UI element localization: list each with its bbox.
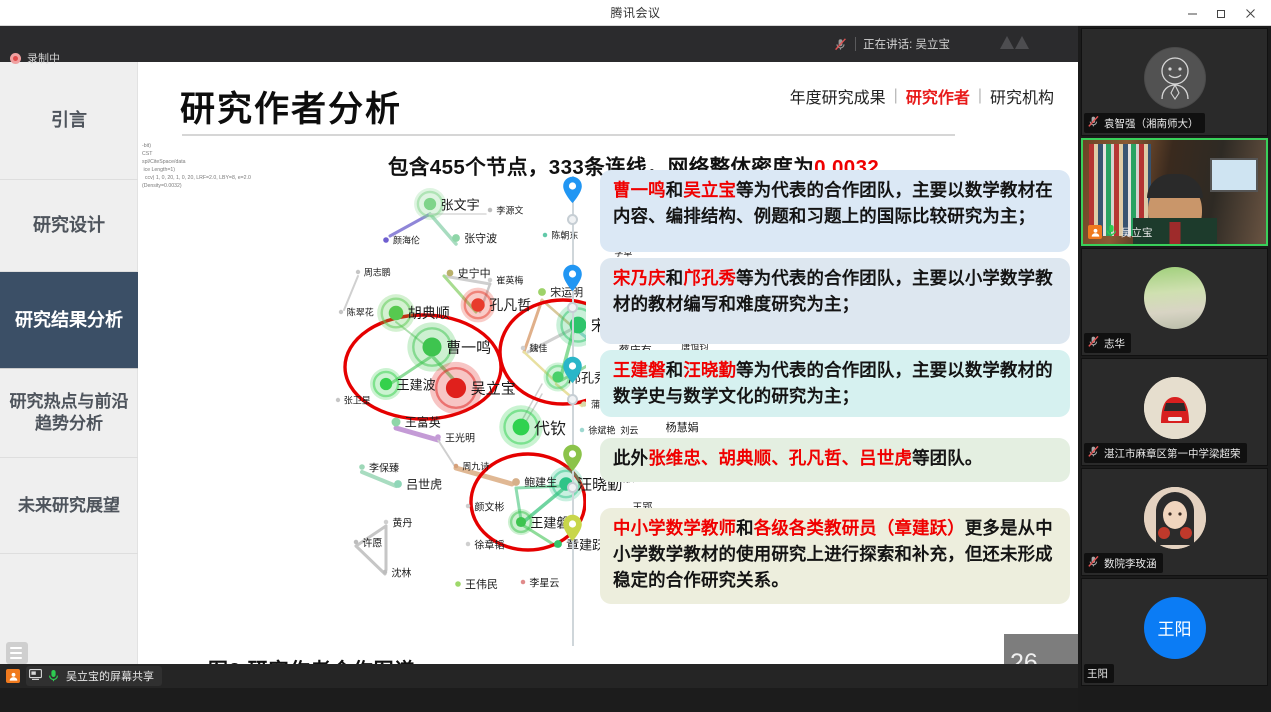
tencent-meeting-window: 腾讯会议 正在讲话: 吴立宝 (0, 0, 1271, 712)
participant-name: 吴立宝 (1121, 225, 1153, 240)
participant-tile[interactable]: 数院李玫涵 (1081, 468, 1268, 576)
host-icon (6, 669, 20, 683)
rail-item-label: 研究结果分析 (15, 309, 123, 332)
network-node (339, 310, 343, 314)
timeline-node-dot (567, 394, 578, 405)
speaking-divider (855, 37, 856, 51)
highlighted-name: 吴立宝 (683, 180, 736, 200)
network-node-label: 王建波 (397, 375, 436, 394)
screen-share-chip: 吴立宝的屏幕共享 (26, 666, 162, 686)
timeline-pin-icon (562, 356, 583, 384)
network-node-label: 王光明 (445, 430, 475, 445)
participant-name: 湛江市麻章区第一中学梁超荣 (1104, 446, 1241, 461)
tencent-meeting-logo-icon (998, 32, 1032, 57)
participant-name-badge: 吴立宝 (1085, 222, 1159, 242)
finding-bubble: 中小学数学教师和各级各类教研员（章建跃）更多是从中小学数学教材的使用研究上进行探… (600, 508, 1070, 604)
network-node (521, 346, 525, 350)
finding-text: 和 (666, 180, 684, 200)
app-title: 腾讯会议 (610, 4, 660, 21)
network-node-label: 徐章韬 (474, 537, 504, 552)
network-node (471, 298, 484, 311)
participant-name-badge: 数院李玫涵 (1084, 553, 1163, 573)
mic-muted-icon (1087, 555, 1100, 571)
network-node (543, 233, 547, 237)
network-node (380, 378, 392, 390)
breadcrumb-separator: | (978, 87, 982, 105)
network-node (454, 464, 458, 468)
highlighted-name: 王建磐 (613, 360, 666, 380)
participant-name: 袁智强（湘南师大） (1104, 116, 1199, 131)
speaking-indicator: 正在讲话: 吴立宝 (833, 36, 950, 52)
timeline-node-dot (567, 214, 578, 225)
share-status-label: 吴立宝的屏幕共享 (66, 668, 154, 684)
mic-on-icon (48, 669, 60, 683)
network-node (512, 478, 520, 486)
window-controls (1178, 0, 1265, 26)
network-node-label: 孔凡哲 (489, 295, 531, 315)
maximize-icon[interactable] (1207, 0, 1236, 26)
rail-item-intro[interactable]: 引言 (0, 62, 138, 180)
share-status-bar: 吴立宝的屏幕共享 (0, 664, 1078, 688)
network-node (455, 581, 461, 587)
network-node-label: 曹一鸣 (446, 337, 491, 358)
timeline-pin-icon (562, 264, 583, 292)
network-node-label: 李保臻 (369, 460, 399, 475)
finding-text: 和 (666, 268, 684, 288)
participant-tile[interactable]: 袁智强（湘南师大） (1081, 28, 1268, 136)
timeline-node-dot (567, 482, 578, 493)
network-node-label: 许愿 (362, 535, 382, 550)
participant-tile[interactable]: 志华 (1081, 248, 1268, 356)
network-node-label: 史宁中 (458, 265, 491, 281)
recording-indicator: 录制中 (10, 50, 60, 66)
speaking-label: 正在讲话: 吴立宝 (863, 36, 950, 52)
rail-item-future-outlook[interactable]: 未来研究展望 (0, 458, 138, 554)
network-node (383, 237, 389, 243)
breadcrumb-item-0[interactable]: 年度研究成果 (790, 84, 886, 108)
finding-text: 此外 (613, 448, 648, 468)
screen-share-icon (29, 669, 42, 683)
network-node (389, 306, 404, 321)
network-node (446, 378, 466, 398)
network-node-label: 李星云 (529, 575, 559, 590)
finding-bubble: 宋乃庆和邝孔秀等为代表的合作团队，主要以小学数学教材的教材编写和难度研究为主； (600, 258, 1070, 344)
network-node-label: 周九诗 (462, 460, 489, 473)
network-node (354, 540, 358, 544)
minimize-icon[interactable] (1178, 0, 1207, 26)
recording-dot-icon (10, 53, 21, 64)
network-node (466, 504, 470, 508)
network-node (383, 570, 387, 574)
participant-roster[interactable]: 袁智强（湘南师大）吴立宝志华湛江市麻章区第一中学梁超荣数院李玫涵王阳王阳 (1078, 26, 1271, 712)
avatar (1144, 267, 1206, 329)
rail-item-hotspots[interactable]: 研究热点与前沿趋势分析 (0, 368, 138, 458)
network-node-label: 颜海伦 (393, 234, 420, 247)
ppt-nav-rail: 引言 研究设计 研究结果分析 研究热点与前沿趋势分析 未来研究展望 (0, 62, 138, 688)
network-node (394, 480, 402, 488)
shared-screen-stage: 引言 研究设计 研究结果分析 研究热点与前沿趋势分析 未来研究展望 研究作者分析… (0, 62, 1078, 688)
network-node (513, 419, 530, 436)
window-titlebar: 腾讯会议 (0, 0, 1271, 26)
rail-item-research-results[interactable]: 研究结果分析 (0, 272, 138, 368)
participant-name-badge: 袁智强（湘南师大） (1084, 113, 1205, 133)
close-icon[interactable] (1236, 0, 1265, 26)
avatar (1144, 487, 1206, 549)
finding-text: 等团队。 (912, 448, 982, 468)
timeline-pin-icon (562, 444, 583, 472)
coauthor-network-graph: 张文宇李源文颜海伦张守波陈朝东李卓于波周志鹏史宁中崔英梅陈翠花胡典顺孔凡哲宋运明… (138, 172, 586, 642)
participant-tile[interactable]: 吴立宝 (1081, 138, 1268, 246)
network-node (424, 198, 436, 210)
participant-name: 志华 (1104, 336, 1125, 351)
network-node (447, 270, 454, 277)
network-node (392, 418, 401, 427)
participant-name: 王阳 (1087, 666, 1108, 681)
mic-muted-icon (1087, 445, 1100, 461)
network-node-label: 张文宇 (441, 195, 480, 214)
network-node-label: 魏佳 (529, 342, 547, 355)
network-node-label: 崔英梅 (496, 274, 523, 287)
breadcrumb-item-2[interactable]: 研究机构 (990, 84, 1054, 108)
highlighted-name: 各级各类教研员（章建跃） (754, 518, 965, 538)
network-node (521, 580, 525, 584)
breadcrumb: 年度研究成果 | 研究作者 | 研究机构 (790, 84, 1054, 108)
avatar-initial: 王阳 (1144, 597, 1206, 659)
page-title: 研究作者分析 (180, 81, 402, 132)
network-nodes (138, 172, 586, 642)
participant-tile[interactable]: 王阳王阳 (1081, 578, 1268, 686)
timeline-node-dot (567, 302, 578, 313)
network-node-label: 沈林 (391, 565, 411, 580)
mic-muted-icon (833, 37, 848, 52)
network-node (336, 398, 340, 402)
rail-item-label: 研究设计 (33, 214, 105, 237)
network-node (538, 288, 546, 296)
network-node (422, 337, 441, 356)
rail-item-label: 引言 (51, 109, 87, 132)
network-node (516, 517, 526, 527)
network-node-label: 颜文彬 (474, 499, 504, 514)
network-node-label: 吴立宝 (471, 378, 516, 399)
finding-bubble: 此外张维忠、胡典顺、孔凡哲、吕世虎等团队。 (600, 438, 1070, 482)
network-node (384, 520, 388, 524)
network-node (488, 208, 492, 212)
breadcrumb-item-1[interactable]: 研究作者 (906, 84, 970, 108)
highlighted-name: 汪晓勤 (683, 360, 736, 380)
timeline-pin-icon (562, 514, 583, 542)
network-node-label: 鲍建生 (524, 474, 557, 490)
network-node-label: 胡典顺 (408, 303, 450, 323)
participant-name-badge: 志华 (1084, 333, 1131, 353)
findings-timeline: 曹一鸣和吴立宝等为代表的合作团队，主要以数学教材在内容、编排结构、例题和习题上的… (562, 170, 1078, 682)
highlighted-name: 宋乃庆 (613, 268, 666, 288)
avatar (1144, 377, 1206, 439)
network-node (359, 464, 365, 470)
mic-muted-icon (1087, 115, 1100, 131)
host-icon (1088, 225, 1102, 239)
network-node-label: 王伟民 (465, 576, 498, 592)
highlighted-name: 张维忠、胡典顺、孔凡哲、吕世虎 (648, 448, 912, 468)
tie (1169, 222, 1180, 244)
network-node-label: 王富英 (405, 414, 441, 431)
slide-canvas: 研究作者分析 年度研究成果 | 研究作者 | 研究机构 包含455个节点，333… (138, 62, 1078, 688)
rail-item-research-design[interactable]: 研究设计 (0, 180, 138, 272)
highlighted-name: 中小学数学教师 (613, 518, 736, 538)
network-node (356, 270, 360, 274)
participant-tile[interactable]: 湛江市麻章区第一中学梁超荣 (1081, 358, 1268, 466)
network-node (554, 540, 562, 548)
network-node-label: 黄丹 (392, 515, 412, 530)
network-node-label: 李源文 (496, 204, 523, 217)
mic-on-icon (1106, 224, 1117, 240)
highlighted-name: 邝孔秀 (683, 268, 736, 288)
recording-label: 录制中 (27, 50, 60, 66)
avatar (1144, 47, 1206, 109)
network-node (466, 542, 470, 546)
finding-bubble: 王建磐和汪晓勤等为代表的合作团队，主要以数学教材的数学史与数学文化的研究为主； (600, 350, 1070, 417)
breadcrumb-separator: | (894, 87, 898, 105)
timeline-spine (572, 176, 574, 646)
rail-item-label: 研究热点与前沿趋势分析 (8, 391, 130, 434)
finding-bubble: 曹一鸣和吴立宝等为代表的合作团队，主要以数学教材在内容、编排结构、例题和习题上的… (600, 170, 1070, 252)
title-divider (182, 134, 955, 136)
mic-muted-icon (1087, 335, 1100, 351)
network-node-label: 张卫星 (344, 394, 371, 407)
network-node (452, 234, 460, 242)
highlighted-name: 曹一鸣 (613, 180, 666, 200)
timeline-pin-icon (562, 176, 583, 204)
participant-name-badge: 王阳 (1084, 664, 1114, 683)
network-node-label: 陈翠花 (347, 306, 374, 319)
network-node-label: 吕世虎 (406, 476, 442, 493)
finding-text: 和 (736, 518, 754, 538)
list-menu-icon[interactable] (6, 642, 28, 664)
network-node (435, 434, 441, 440)
rail-item-label: 未来研究展望 (18, 495, 120, 516)
participant-name: 数院李玫涵 (1104, 556, 1157, 571)
monitor (1210, 158, 1258, 192)
network-node-label: 张守波 (464, 230, 497, 246)
finding-text: 和 (666, 360, 684, 380)
meeting-topbar: 正在讲话: 吴立宝 (0, 26, 1078, 62)
network-node-label: 周志鹏 (364, 266, 391, 279)
participant-name-badge: 湛江市麻章区第一中学梁超荣 (1084, 443, 1247, 463)
